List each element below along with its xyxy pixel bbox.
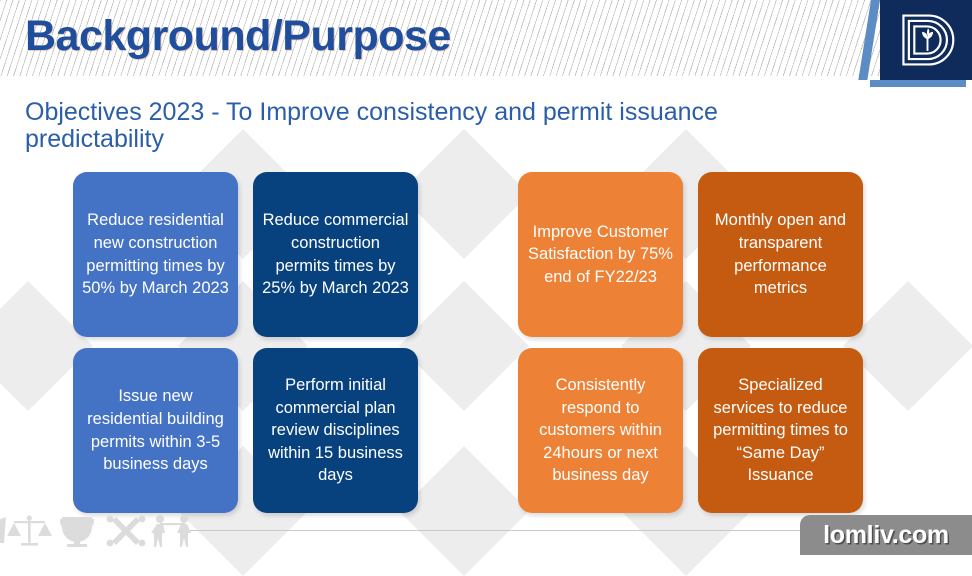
watermark-text: lomliv.com bbox=[823, 521, 949, 550]
objective-box-specialized-same-day-issuance[interactable]: Specialized services to reduce permittin… bbox=[698, 348, 863, 513]
scales-of-justice-icon bbox=[7, 515, 52, 545]
objective-box-improve-customer-satisfaction[interactable]: Improve Customer Satisfaction by 75% end… bbox=[518, 172, 683, 337]
two-people-icon bbox=[151, 515, 191, 547]
footer-icon-strip bbox=[0, 509, 210, 553]
page-title: Background/Purpose bbox=[25, 12, 451, 61]
objective-box-monthly-performance-metrics[interactable]: Monthly open and transparent performance… bbox=[698, 172, 863, 337]
objective-box-label: Specialized services to reduce permittin… bbox=[707, 374, 854, 487]
trophy-icon bbox=[60, 517, 94, 547]
dallas-d-logo-icon bbox=[898, 11, 956, 69]
objective-box-reduce-residential-permitting-times[interactable]: Reduce residential new construction perm… bbox=[73, 172, 238, 337]
decor-diamond bbox=[399, 446, 529, 576]
objective-box-label: Reduce residential new construction perm… bbox=[82, 209, 229, 299]
objective-box-issue-residential-building-permits[interactable]: Issue new residential building permits w… bbox=[73, 348, 238, 513]
logo-accent-edge bbox=[858, 0, 880, 80]
partial-shape-icon bbox=[0, 517, 6, 543]
city-of-dallas-logo bbox=[862, 0, 972, 88]
watermark-badge: lomliv.com bbox=[800, 515, 972, 555]
decor-diamond bbox=[399, 281, 529, 411]
objective-box-perform-commercial-plan-review[interactable]: Perform initial commercial plan review d… bbox=[253, 348, 418, 513]
diversity-starburst-icon bbox=[107, 516, 146, 547]
objective-box-label: Monthly open and transparent performance… bbox=[707, 209, 854, 299]
objective-box-label: Issue new residential building permits w… bbox=[82, 385, 229, 475]
objective-box-reduce-commercial-permit-times[interactable]: Reduce commercial construction permits t… bbox=[253, 172, 418, 337]
objective-box-label: Improve Customer Satisfaction by 75% end… bbox=[527, 221, 674, 289]
logo-accent-bar bbox=[870, 80, 966, 87]
objective-box-label: Reduce commercial construction permits t… bbox=[262, 209, 409, 299]
objective-box-label: Perform initial commercial plan review d… bbox=[262, 374, 409, 487]
objective-box-label: Consistently respond to customers within… bbox=[527, 374, 674, 487]
objective-box-consistently-respond-to-customers[interactable]: Consistently respond to customers within… bbox=[518, 348, 683, 513]
slide-subtitle: Objectives 2023 - To Improve consistency… bbox=[25, 99, 815, 153]
